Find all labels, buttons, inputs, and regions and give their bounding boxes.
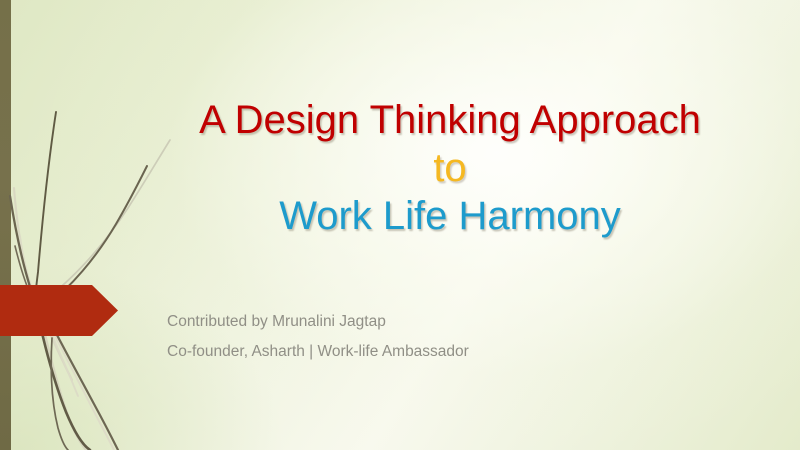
subtitle-line-role: Co-founder, Asharth | Work-life Ambassad… [167,337,687,367]
red-arrow-banner [0,285,118,336]
grass-blade-dark-1 [35,112,56,302]
slide-title: A Design Thinking Approach to Work Life … [120,96,780,240]
arrow-shape [0,285,118,336]
title-line-2: to [120,144,780,192]
subtitle-line-contributor: Contributed by Mrunalini Jagtap [167,307,687,337]
title-line-3: Work Life Harmony [120,192,780,240]
slide-subtitle: Contributed by Mrunalini Jagtap Co-found… [167,307,687,367]
presentation-slide: A Design Thinking Approach to Work Life … [0,0,800,450]
title-line-1: A Design Thinking Approach [120,96,780,144]
